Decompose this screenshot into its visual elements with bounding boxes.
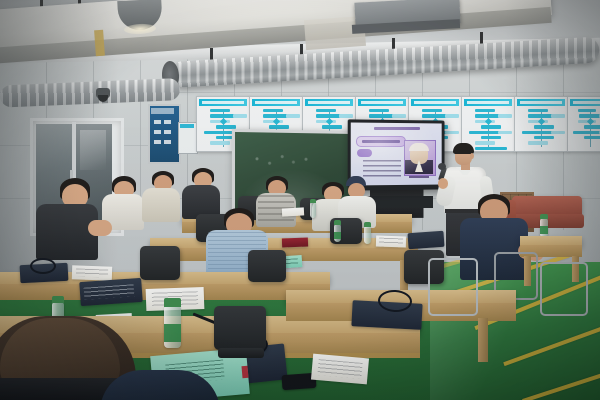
chair[interactable] <box>248 250 286 282</box>
microphone-head <box>438 163 446 170</box>
bottle-cap <box>334 220 341 225</box>
flowchart-decision-node <box>219 118 226 125</box>
wall-poster-header-text <box>467 101 509 104</box>
presenter-hand <box>438 178 448 189</box>
folder-bag <box>407 231 444 249</box>
bottle-label <box>164 324 181 342</box>
flowchart-node <box>316 109 337 112</box>
paper-document <box>282 207 304 216</box>
flowchart-decision-node <box>325 118 332 125</box>
blue-banner-title <box>151 108 174 114</box>
bottle-cap <box>540 214 548 219</box>
chair[interactable] <box>214 306 266 350</box>
wall-poster-header <box>252 99 300 106</box>
folder-handle <box>30 258 56 274</box>
paper-text-lines <box>379 238 403 246</box>
flowchart-side-node <box>445 131 459 134</box>
bottle-cap <box>164 298 181 307</box>
wall-poster-small-header <box>180 124 194 128</box>
flowchart-node <box>481 136 502 139</box>
wall-poster-header-text <box>361 101 403 104</box>
wall-poster-header-text <box>308 101 350 104</box>
chair-seat[interactable] <box>218 348 264 358</box>
wall-poster-header <box>305 99 353 106</box>
chair-frame[interactable] <box>540 262 588 316</box>
wall-poster-header-text <box>255 101 297 104</box>
flowchart-side-node <box>445 114 459 117</box>
flowchart-side-node <box>286 114 300 117</box>
flowchart-side-node <box>339 114 353 117</box>
desk-leg <box>478 318 488 362</box>
presenter-ear <box>470 153 474 159</box>
flowchart-side-node <box>233 114 247 117</box>
flowchart-node <box>210 141 231 144</box>
flowchart-node <box>263 109 284 112</box>
flowchart-node <box>269 125 290 128</box>
flowchart-side-node <box>392 114 406 117</box>
flowchart-decision-node <box>484 118 491 125</box>
flowchart-node <box>322 125 343 128</box>
bottle-cap <box>52 296 64 303</box>
water-bottle <box>310 202 316 218</box>
booklet-tab <box>241 366 248 378</box>
flowchart-node <box>481 125 502 128</box>
paper-text-lines <box>76 268 108 277</box>
flowchart-decision-node <box>272 118 279 125</box>
flowchart-node <box>369 109 390 112</box>
flowchart-node <box>422 109 443 112</box>
water-bottle <box>364 226 371 244</box>
flowchart-node <box>475 147 507 150</box>
flowchart-node <box>469 131 501 134</box>
wall-poster-header-text <box>202 101 244 104</box>
bottle-label <box>334 232 341 239</box>
flowchart-node <box>475 141 496 144</box>
classroom-photo <box>0 0 600 400</box>
flowchart-node <box>210 109 231 112</box>
chair[interactable] <box>140 246 180 280</box>
screen-glare <box>351 122 442 185</box>
attendee-arm <box>88 220 112 236</box>
bottle-cap <box>310 199 316 203</box>
wall-poster-header <box>199 99 247 106</box>
flowchart-node <box>475 109 496 112</box>
bottle-cap <box>364 222 371 227</box>
attendee-torso <box>142 188 180 222</box>
bottle-label <box>540 226 548 234</box>
wall-poster-header <box>411 99 459 106</box>
wall-poster-header <box>358 99 406 106</box>
chair-frame[interactable] <box>428 258 478 316</box>
red-book <box>282 238 308 248</box>
wall-poster-header-text <box>414 101 456 104</box>
